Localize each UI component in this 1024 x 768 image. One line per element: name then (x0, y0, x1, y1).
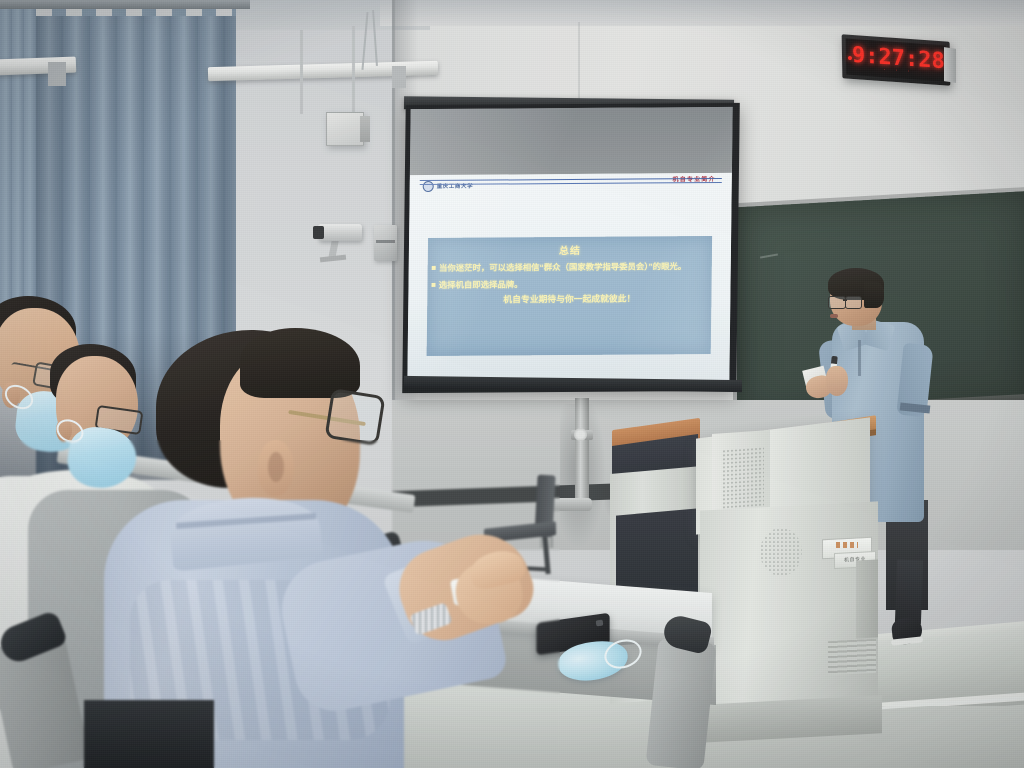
surveillance-camera-icon (318, 224, 362, 241)
bullet-square-icon (432, 283, 436, 287)
ceiling-band (380, 0, 1024, 26)
slide-bullet-1: 当你迷茫时，可以选择相信“群众（国家教学指导委员会）”的眼光。 (432, 260, 712, 275)
slide-header: 重庆工商大学 机自专业简介 (409, 173, 731, 207)
projection-screen[interactable]: 重庆工商大学 机自专业简介 总结 当你迷茫时，可以选择相信“群众（国家教学指导委… (407, 107, 732, 385)
wall-conduit (352, 26, 355, 114)
glasses-lens-icon (324, 388, 385, 446)
university-logo-mark (423, 181, 434, 192)
slide-bullet-text: 当你迷茫时，可以选择相信“群众（国家教学指导委员会）”的眼光。 (439, 260, 686, 274)
classroom-photo-scene: 重庆工商大学 机自专业简介 总结 当你迷茫时，可以选择相信“群众（国家教学指导委… (0, 0, 1024, 768)
slide-closing-line: 机自专业期待与你一起成就彼此！ (428, 291, 712, 306)
phone-camera-icon (596, 620, 604, 627)
light-tube-end-cap (48, 62, 66, 86)
screen-dead-band (410, 107, 733, 175)
slide-title: 总结 (428, 241, 712, 258)
electrical-junction-box (326, 112, 364, 146)
speaker-grille-round-icon (760, 528, 802, 576)
speaker-grille-icon (722, 447, 764, 512)
junction-box-side (360, 116, 370, 142)
light-tube-end-cap (392, 66, 406, 88)
bullet-square-icon (432, 266, 436, 270)
presenter-hair-side (864, 282, 884, 308)
lectern-indicator-lights (836, 542, 858, 548)
slide-bullet-text: 选择机自即选择品牌。 (439, 278, 523, 291)
seat-back-foreground (84, 700, 214, 768)
glasses-icon (828, 296, 846, 309)
lectern-vent-grille (828, 639, 876, 676)
glasses-bridge (843, 299, 847, 301)
sensor-box-seam (376, 240, 395, 243)
presenter-mouth (830, 314, 838, 318)
presenter-trouser-leg (895, 560, 923, 625)
lectern-side-recess (856, 559, 878, 638)
presenter-right-hand (826, 366, 848, 396)
clock-wall-mount (944, 47, 956, 83)
curtain-rail (0, 0, 250, 9)
attendee-c-ear-inner (268, 452, 284, 482)
wall-pipe (575, 398, 589, 508)
camera-lens (313, 226, 324, 239)
university-logo: 重庆工商大学 (423, 181, 474, 192)
projected-slide: 重庆工商大学 机自专业简介 总结 当你迷茫时，可以选择相信“群众（国家教学指导委… (407, 173, 732, 385)
presenter-shirt-placket (858, 340, 861, 376)
glasses-icon (845, 296, 862, 309)
slide-body-panel: 总结 当你迷茫时，可以选择相信“群众（国家教学指导委员会）”的眼光。 选择机自即… (427, 236, 712, 355)
slide-bullet-2: 选择机自即选择品牌。 (432, 277, 712, 292)
wall-conduit (300, 30, 303, 114)
pipe-gauge (574, 428, 587, 441)
wall-mounted-sensor-box (374, 225, 397, 261)
